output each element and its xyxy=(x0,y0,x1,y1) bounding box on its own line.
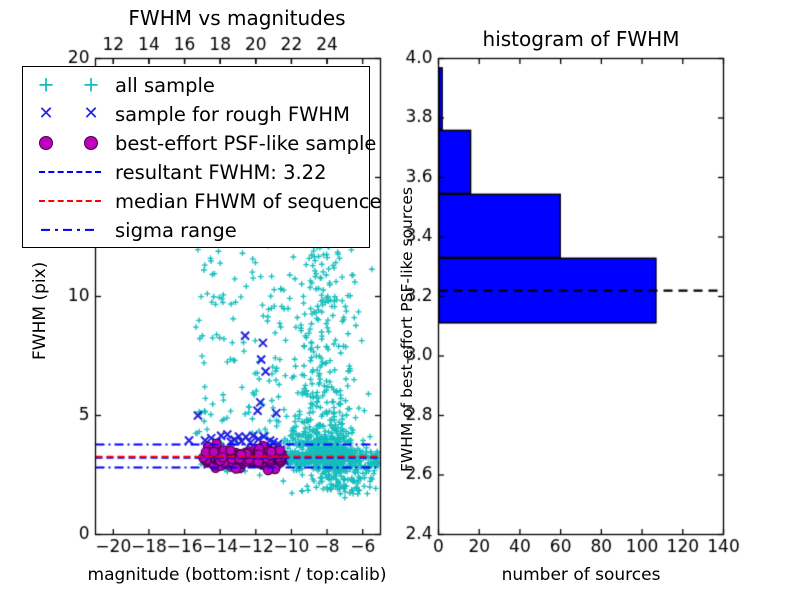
dashed-line-icon xyxy=(39,200,101,202)
cross-marker-icon: ✕ xyxy=(83,105,98,123)
legend-key-median-fwhm xyxy=(29,187,115,215)
dashed-line-icon xyxy=(39,171,101,173)
legend-item: sigma range xyxy=(29,216,237,244)
legend-label: all sample xyxy=(115,74,215,97)
legend-label: best-effort PSF-like sample xyxy=(115,132,376,155)
legend-item: median FHWM of sequence xyxy=(29,187,381,215)
legend: + + all sample ✕ ✕ sample for rough FWHM… xyxy=(22,66,370,248)
legend-label: sigma range xyxy=(115,219,237,242)
plus-marker-icon: + xyxy=(37,75,55,96)
circle-marker-icon xyxy=(84,136,98,150)
legend-key-psf-sample xyxy=(29,129,115,157)
figure-canvas: FWHM vs magnitudes magnitude (bottom:isn… xyxy=(0,0,800,600)
legend-label: median FHWM of sequence xyxy=(115,190,381,213)
legend-label: sample for rough FWHM xyxy=(115,103,350,126)
histogram-xlabel: number of sources xyxy=(502,565,661,585)
legend-key-resultant-fwhm xyxy=(29,158,115,186)
dashdot-line-icon xyxy=(41,229,99,231)
legend-key-rough-sample: ✕ ✕ xyxy=(29,100,115,128)
legend-key-sigma-range xyxy=(29,216,115,244)
legend-key-all-sample: + + xyxy=(29,71,115,99)
circle-marker-icon xyxy=(39,136,53,150)
legend-item: ✕ ✕ sample for rough FWHM xyxy=(29,100,350,128)
legend-label: resultant FWHM: 3.22 xyxy=(115,161,327,184)
legend-item: best-effort PSF-like sample xyxy=(29,129,376,157)
plus-marker-icon: + xyxy=(82,75,100,96)
cross-marker-icon: ✕ xyxy=(38,105,53,123)
legend-item: resultant FWHM: 3.22 xyxy=(29,158,327,186)
legend-item: + + all sample xyxy=(29,71,215,99)
histogram-ylabel: FWHM of best-effort PSF-like sources xyxy=(398,187,416,472)
histogram-title: histogram of FWHM xyxy=(483,27,680,51)
